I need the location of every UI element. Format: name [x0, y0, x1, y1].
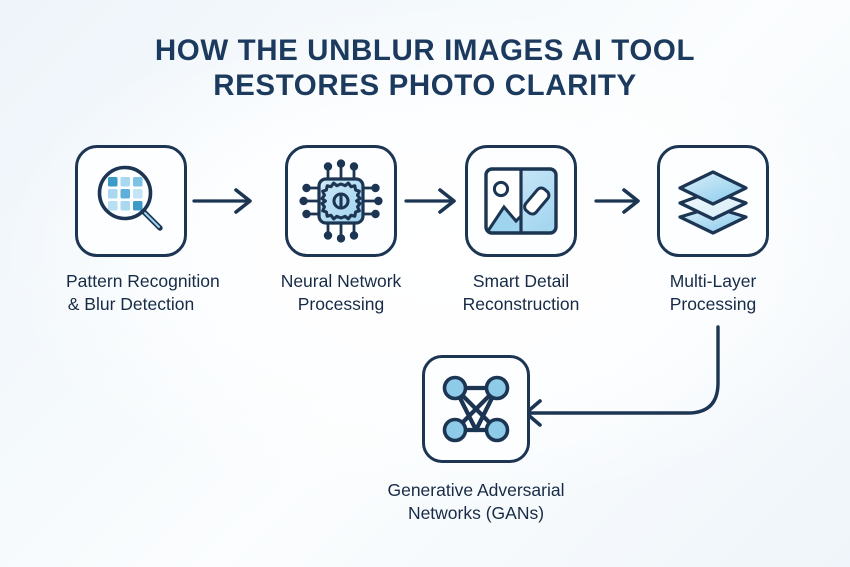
icon-box-gans — [422, 355, 530, 463]
icon-box-neural-network — [285, 145, 397, 257]
step-label-line-1: Pattern Recognition — [66, 270, 196, 293]
arrow-step1-to-step2 — [192, 186, 262, 216]
step-label-line-2: & Blur Detection — [66, 293, 196, 316]
title-line-1: HOW THE UNBLUR IMAGES AI TOOL — [0, 33, 850, 68]
magnifier-pixel-grid-icon — [88, 158, 174, 244]
step-pattern-recognition[interactable]: Pattern Recognition & Blur Detection — [66, 145, 196, 316]
step-label-line-1: Neural Network — [276, 270, 406, 293]
cpu-chip-gear-icon — [298, 158, 384, 244]
step-label-neural-network: Neural Network Processing — [276, 270, 406, 316]
step-label-pattern-recognition: Pattern Recognition & Blur Detection — [66, 270, 196, 316]
step-label-line-2: Processing — [648, 293, 778, 316]
title-line-2: RESTORES PHOTO CLARITY — [0, 68, 850, 103]
step-gans[interactable]: Generative Adversarial Networks (GANs) — [351, 355, 601, 525]
icon-box-pattern-recognition — [75, 145, 187, 257]
step-smart-detail[interactable]: Smart Detail Reconstruction — [456, 145, 586, 316]
arrow-step3-to-step4 — [580, 186, 650, 216]
step-neural-network[interactable]: Neural Network Processing — [276, 145, 406, 316]
infographic-canvas: HOW THE UNBLUR IMAGES AI TOOL RESTORES P… — [0, 0, 850, 567]
step-label-gans: Generative Adversarial Networks (GANs) — [351, 479, 601, 525]
step-label-smart-detail: Smart Detail Reconstruction — [456, 270, 586, 316]
step-label-line-1: Multi-Layer — [648, 270, 778, 293]
icon-box-multi-layer — [657, 145, 769, 257]
step-label-line-2: Networks (GANs) — [351, 502, 601, 525]
step-label-line-1: Smart Detail — [456, 270, 586, 293]
page-title: HOW THE UNBLUR IMAGES AI TOOL RESTORES P… — [0, 33, 850, 103]
image-split-eraser-icon — [478, 161, 564, 241]
neural-graph-nodes-icon — [435, 368, 517, 450]
stacked-layers-icon — [670, 161, 756, 241]
step-label-line-1: Generative Adversarial — [351, 479, 601, 502]
step-label-line-2: Reconstruction — [456, 293, 586, 316]
step-multi-layer[interactable]: Multi-Layer Processing — [648, 145, 778, 316]
step-label-multi-layer: Multi-Layer Processing — [648, 270, 778, 316]
icon-box-smart-detail — [465, 145, 577, 257]
step-label-line-2: Processing — [276, 293, 406, 316]
